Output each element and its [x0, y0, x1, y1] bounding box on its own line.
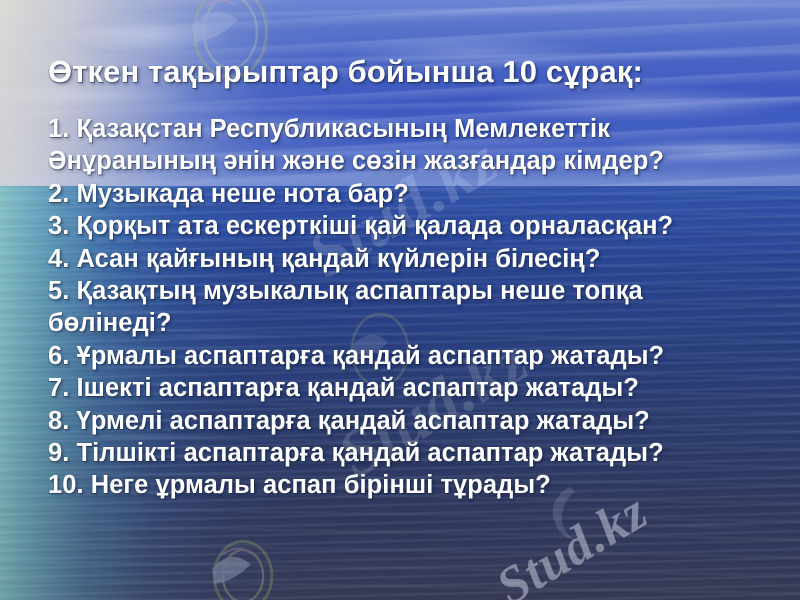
question-line: 10. Неге ұрмалы аспап бірінші тұрады?: [48, 469, 778, 501]
question-line: 4. Асан қайғының қандай күйлерін білесің…: [48, 243, 778, 275]
question-list: 1. Қазақстан Республикасының Мемлекеттік…: [48, 113, 778, 502]
question-line: 3. Қорқыт ата ескерткіші қай қалада орна…: [48, 210, 778, 242]
slide-content: Өткен тақырыптар бойынша 10 сұрақ: 1. Қа…: [0, 0, 800, 600]
question-line: Әнұранының әнін және сөзін жазғандар кім…: [48, 145, 778, 177]
slide-title: Өткен тақырыптар бойынша 10 сұрақ:: [48, 54, 643, 90]
question-line: 6. Ұрмалы аспаптарға қандай аспаптар жат…: [48, 340, 778, 372]
question-line: бөлінеді?: [48, 307, 778, 339]
question-line: 9. Тілшікті аспаптарға қандай аспаптар ж…: [48, 437, 778, 469]
question-line: 5. Қазақтың музыкалық аспаптары неше топ…: [48, 275, 778, 307]
question-line: 1. Қазақстан Республикасының Мемлекеттік: [48, 113, 778, 145]
question-line: 2. Музыкада неше нота бар?: [48, 178, 778, 210]
presentation-slide: Stud.kz Stud.kz Stud.kz Өткен тақырыптар…: [0, 0, 800, 600]
question-line: 7. Ішекті аспаптарға қандай аспаптар жат…: [48, 372, 778, 404]
question-line: 8. Үрмелі аспаптарға қандай аспаптар жат…: [48, 405, 778, 437]
